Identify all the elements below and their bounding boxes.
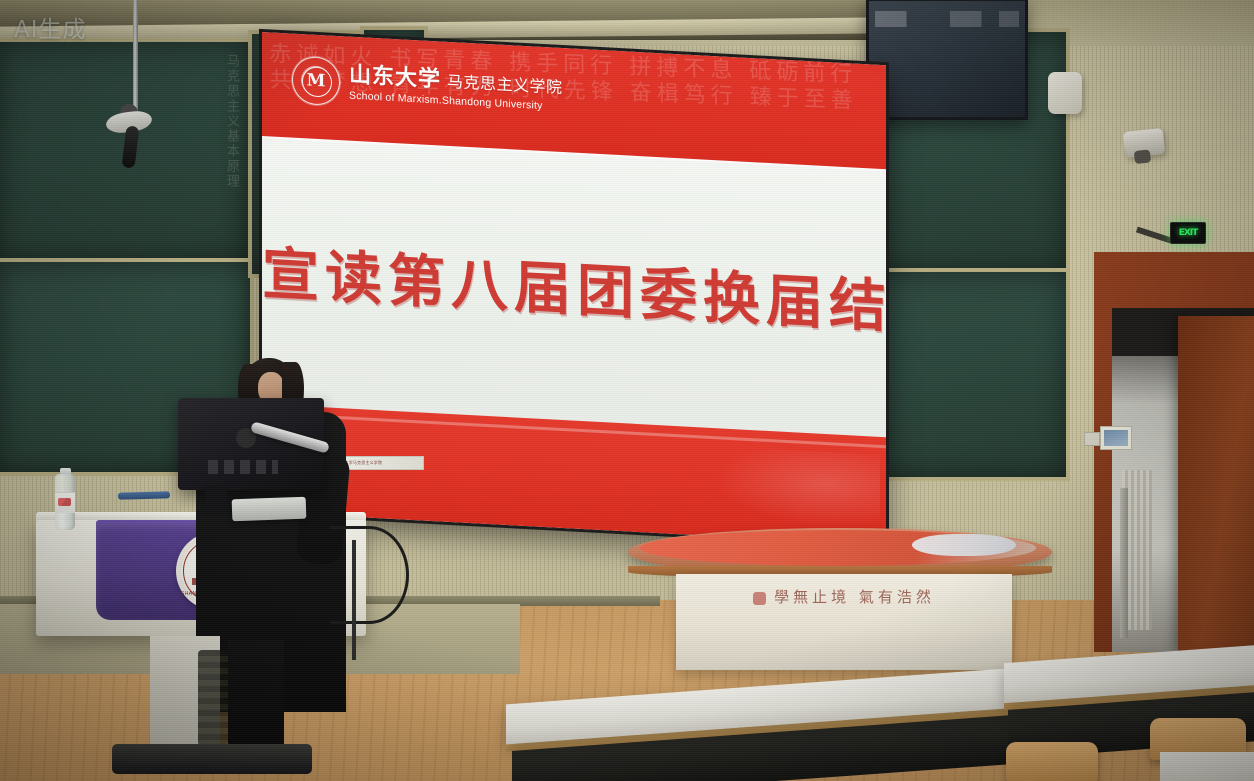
wall-display xyxy=(866,0,1028,120)
marker-pen xyxy=(118,491,170,499)
corridor-pipe xyxy=(1120,488,1128,638)
ai-generated-watermark: AI生成 xyxy=(14,10,87,44)
university-motto: 學無止境 氣有浩然 xyxy=(676,586,1012,607)
blackboard-panel-right-bottom xyxy=(866,268,1070,481)
display-ui-strip xyxy=(875,11,1019,27)
banner-org-cn: 山东大学 xyxy=(349,62,441,93)
handheld-tablet xyxy=(232,497,307,522)
chair-front-left xyxy=(1006,742,1098,781)
monitor-stand xyxy=(205,486,227,512)
monitor-ports xyxy=(208,460,278,474)
presenter-lower-body xyxy=(228,640,284,760)
banner-org-institute-cn: 马克思主义学院 xyxy=(447,72,563,97)
ceiling-boom-rod xyxy=(133,0,138,118)
exit-sign: EXIT xyxy=(1170,222,1206,244)
wall-socket-icon[interactable] xyxy=(1084,432,1100,446)
banner-motif xyxy=(700,445,880,535)
seal-letter: M xyxy=(293,57,339,105)
mic-stand xyxy=(352,540,356,660)
wall-control-panel[interactable] xyxy=(1100,426,1132,450)
lecture-hall-photo: 马克思主义基本原理 马克思主义基本原理 赤诚如火 书写青春 携手同行 拼搏不息 … xyxy=(0,0,1254,781)
power-cable-loop xyxy=(330,526,409,624)
table-papers xyxy=(912,534,1016,556)
motto-text: 學無止境 氣有浩然 xyxy=(774,588,935,606)
door-leaf[interactable] xyxy=(1178,316,1254,652)
water-bottle-label xyxy=(55,492,75,513)
wall-camera-icon xyxy=(1123,128,1165,158)
exit-sign-label: EXIT xyxy=(1179,228,1198,238)
podium-base xyxy=(112,744,312,774)
wall-speaker-icon xyxy=(1048,72,1082,114)
desk-front-corner xyxy=(1160,752,1254,781)
motto-seal-icon xyxy=(753,592,766,605)
floor-cables xyxy=(198,650,228,746)
university-seal-icon: M xyxy=(292,56,340,107)
banner-logo-text: 山东大学马克思主义学院 School of Marxism.Shandong U… xyxy=(349,64,563,112)
chalk-writing: 马克思主义基本原理 xyxy=(222,54,240,189)
